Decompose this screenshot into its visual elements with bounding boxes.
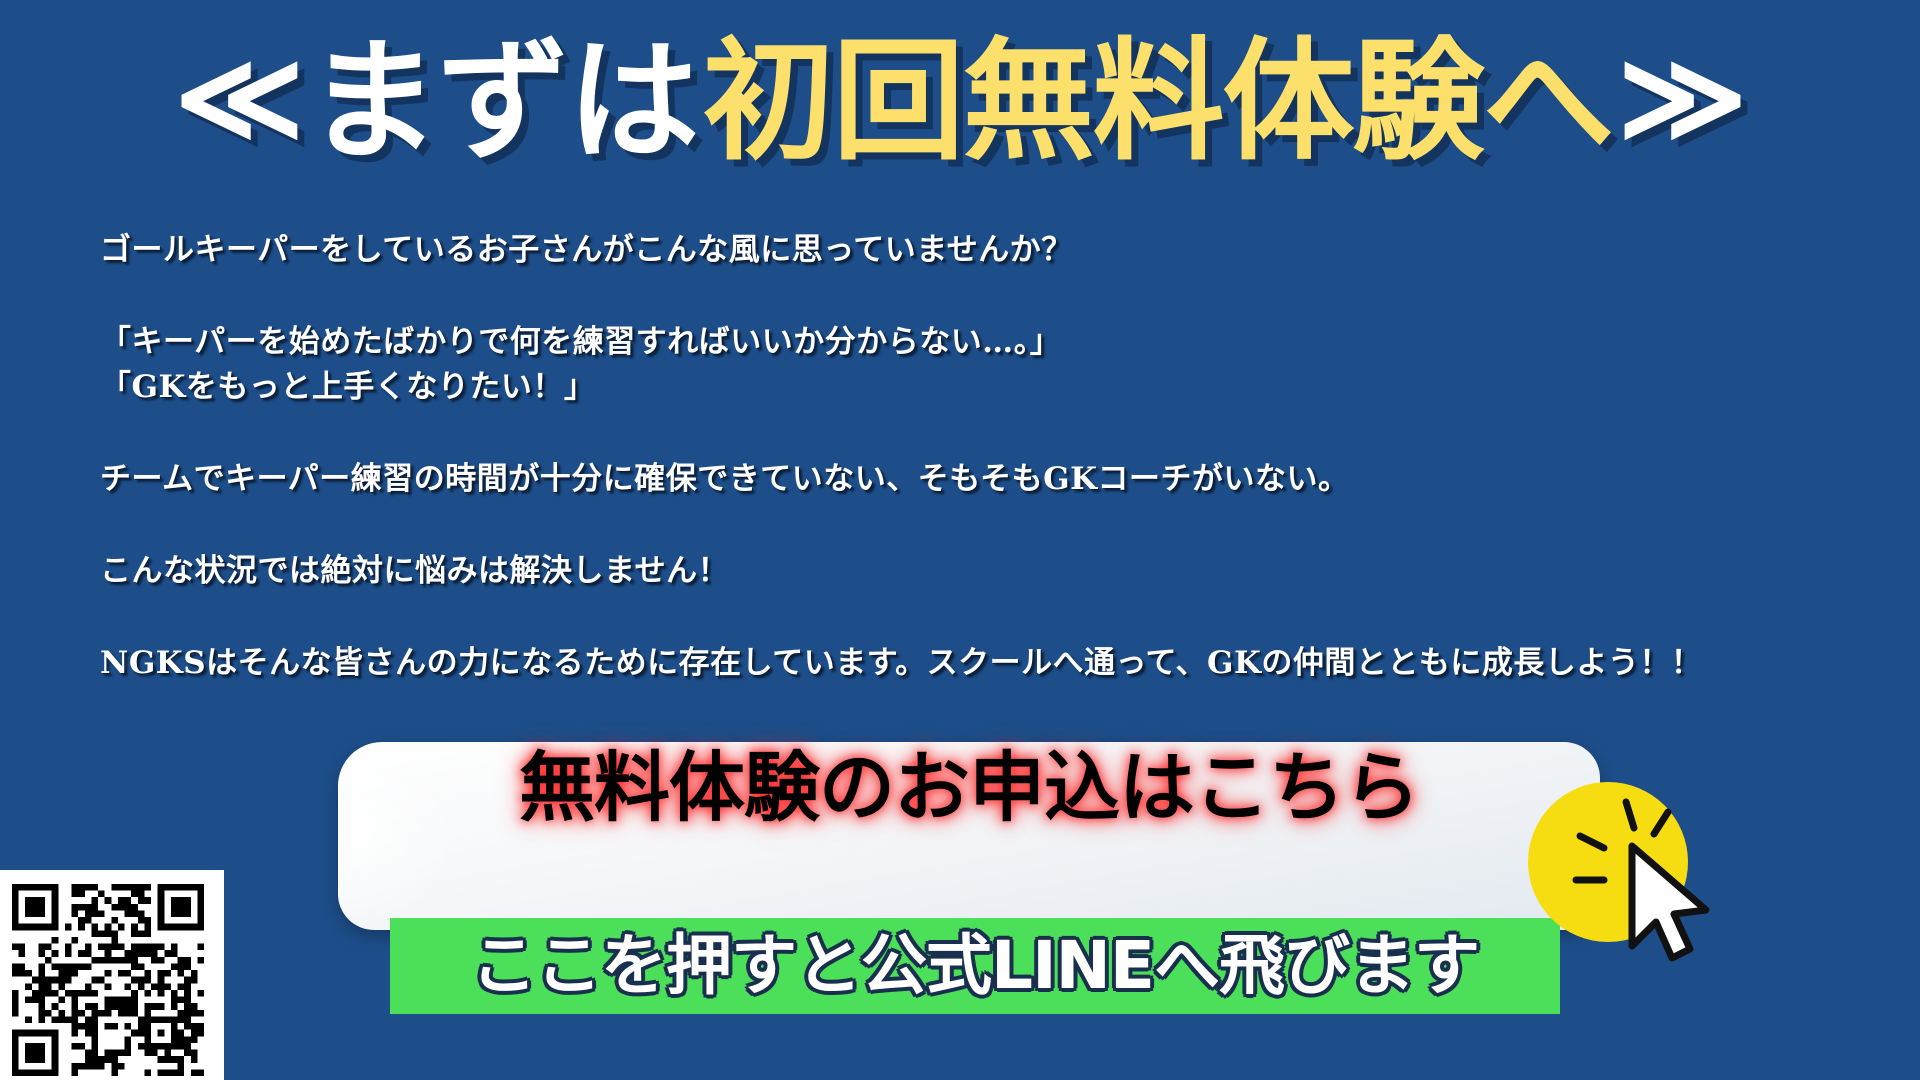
cursor-arrow-icon (1518, 768, 1718, 968)
paragraph-closing: NGKSはそんな皆さんの力になるために存在しています。スクールへ通って、GKの仲… (100, 643, 1800, 683)
paragraph-warning: こんな状況では絶対に悩みは解決しません！ (100, 551, 1800, 591)
title-close-bracket: ≫ (1618, 36, 1746, 160)
title-highlight: 初回無料体験へ (703, 36, 1613, 168)
paragraph-question: ゴールキーパーをしているお子さんがこんな風に思っていませんか？ (100, 230, 1800, 270)
line-redirect-banner[interactable]: ここを押すと公式LINEへ飛びます (390, 918, 1560, 1014)
body-copy: ゴールキーパーをしているお子さんがこんな風に思っていませんか？ 「キーパーを始め… (100, 230, 1800, 684)
paragraph-quote-1: 「キーパーを始めたばかりで何を練習すればいいか分からない…。」 (100, 322, 1800, 362)
paragraph-quote-2: 「GKをもっと上手くなりたい！」 (100, 367, 1800, 407)
qr-code-icon (12, 884, 204, 1076)
title-open-bracket: ≪ (175, 36, 303, 160)
line-redirect-label: ここを押すと公式LINEへ飛びます (390, 922, 1560, 1010)
title-white-lead: まずは (307, 36, 697, 168)
qr-code-panel (0, 870, 224, 1080)
cursor-click-burst-icon (1528, 782, 1708, 962)
cta-headline-label: 無料体験のお申込はこちら (338, 748, 1600, 828)
paragraph-problem: チームでキーパー練習の時間が十分に確保できていない、そもそもGKコーチがいない。 (100, 459, 1800, 499)
free-trial-cta-button[interactable]: 無料体験のお申込はこちら (338, 742, 1600, 930)
page-title: ≪ まずは 初回無料体験へ ≫ (0, 36, 1920, 168)
